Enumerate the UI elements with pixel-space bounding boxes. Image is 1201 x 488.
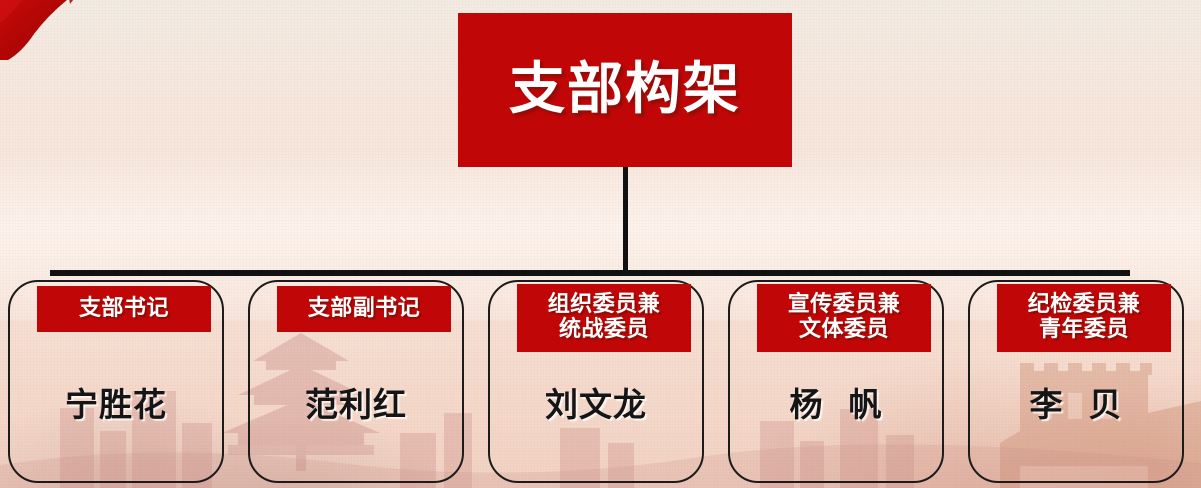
org-node-title: 宣传委员兼 文体委员 xyxy=(788,293,901,342)
connector-horizontal xyxy=(50,270,1130,276)
org-node-card[interactable]: 支部书记 宁胜花 xyxy=(8,280,224,483)
connector-vertical xyxy=(623,167,628,275)
org-node-name: 范利红 xyxy=(250,378,462,426)
org-node-name: 宁胜花 xyxy=(10,378,222,426)
org-node-card[interactable]: 组织委员兼 统战委员 刘文龙 xyxy=(488,280,704,483)
org-node-card[interactable]: 宣传委员兼 文体委员 杨 帆 xyxy=(728,280,944,483)
org-node-title-box: 支部书记 xyxy=(37,286,211,332)
red-ribbon-decoration xyxy=(0,0,144,68)
slide-canvas: 支部构架 支部书记 宁胜花 支部副书记 范利红 组织委员兼 统战委员 刘文龙 宣… xyxy=(0,0,1201,488)
org-node-name: 杨 帆 xyxy=(730,378,942,426)
org-node-name: 刘文龙 xyxy=(490,378,702,426)
org-node-title-box: 宣传委员兼 文体委员 xyxy=(757,284,931,352)
page-title: 支部构架 xyxy=(509,62,741,118)
org-node-title: 纪检委员兼 青年委员 xyxy=(1028,293,1141,342)
org-node-title: 组织委员兼 统战委员 xyxy=(548,293,661,342)
org-node-card[interactable]: 纪检委员兼 青年委员 李 贝 xyxy=(968,280,1184,483)
chart-title-box: 支部构架 xyxy=(458,13,792,167)
org-node-name: 李 贝 xyxy=(970,378,1182,426)
org-node-title: 支部副书记 xyxy=(308,297,421,322)
org-node-title-box: 纪检委员兼 青年委员 xyxy=(997,284,1171,352)
org-node-card[interactable]: 支部副书记 范利红 xyxy=(248,280,464,483)
org-node-title: 支部书记 xyxy=(79,297,169,322)
org-node-title-box: 支部副书记 xyxy=(277,286,451,332)
org-node-title-box: 组织委员兼 统战委员 xyxy=(517,284,691,352)
